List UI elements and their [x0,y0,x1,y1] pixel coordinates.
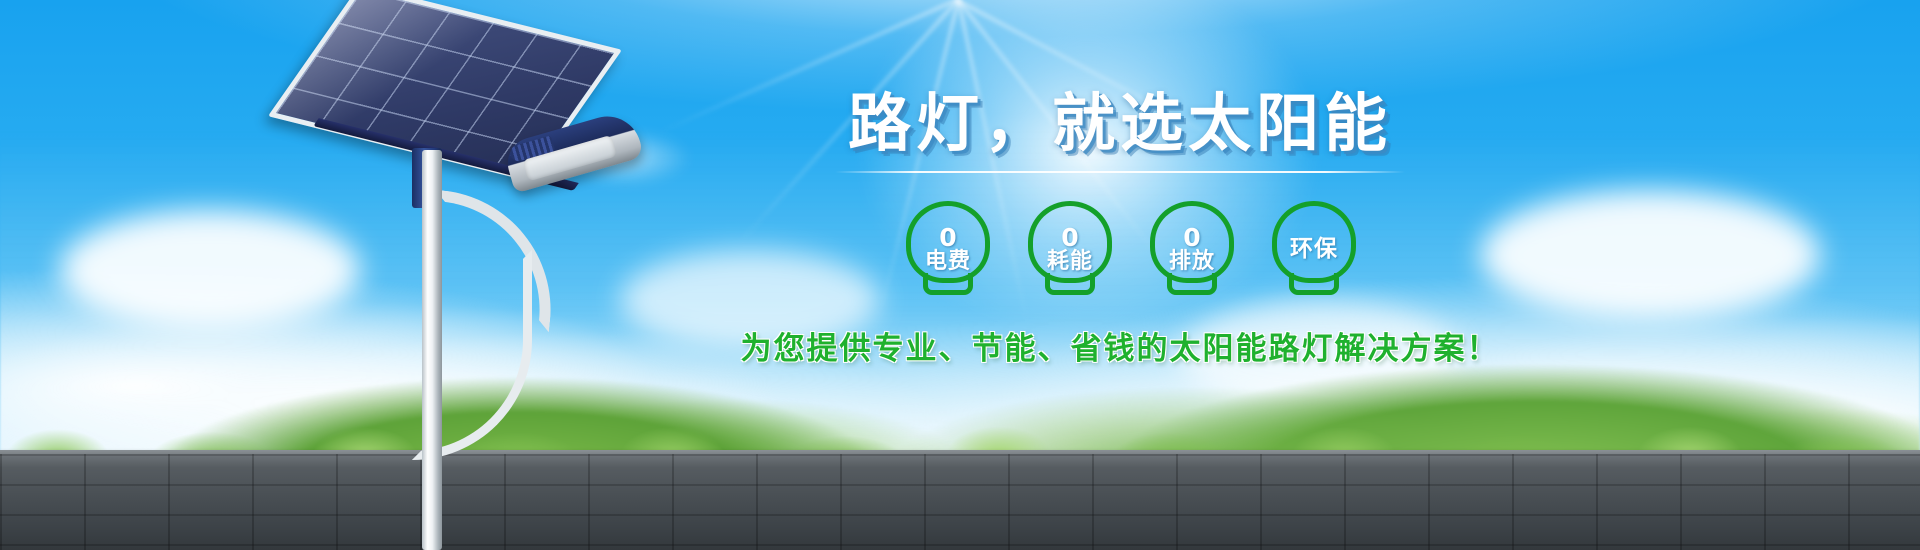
banner-content: 路灯，就选太阳能 0 电费 0 耗能 0 排放 环保 [760,92,1480,368]
tile-wall [0,454,1920,550]
solar-streetlight-hero-banner: 路灯，就选太阳能 0 电费 0 耗能 0 排放 环保 [0,0,1920,550]
headline-divider [835,171,1405,173]
feature-badge-0-emissions: 0 排放 [1140,197,1244,301]
badge-label: 环保 [1290,237,1338,261]
feature-badge-0-energy-use: 0 耗能 [1018,197,1122,301]
feature-badge-list: 0 电费 0 耗能 0 排放 环保 [760,197,1480,301]
feature-badge-0-electricity-cost: 0 电费 [896,197,1000,301]
solar-street-light [300,0,760,550]
feature-badge-eco-friendly: 环保 [1262,197,1366,301]
light-pole [422,150,442,550]
badge-number: 0 [1183,225,1200,250]
banner-tagline: 为您提供专业、节能、省钱的太阳能路灯解决方案！ [630,323,1610,368]
banner-headline: 路灯，就选太阳能 [760,92,1480,155]
badge-number: 0 [939,225,956,250]
badge-label: 耗能 [1047,250,1093,273]
cloud [1480,190,1820,320]
badge-number: 0 [1061,225,1078,250]
badge-label: 排放 [1169,250,1215,273]
badge-label: 电费 [925,250,971,273]
